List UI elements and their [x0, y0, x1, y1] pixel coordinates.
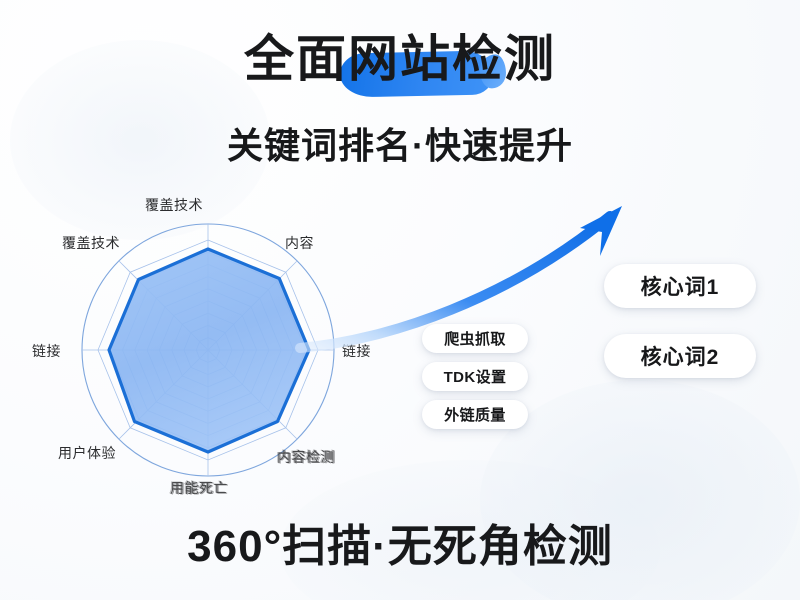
radar-axis-label-bottom: 用能死亡 — [170, 478, 228, 498]
title-part-suffix: 检测 — [452, 31, 556, 87]
keyword-pill-1-label: 核心词1 — [641, 271, 720, 301]
radar-axis-label-bottom-right: 内容检测 — [277, 447, 335, 467]
page-footer-title: 360°扫描·无死角检测 — [0, 510, 800, 574]
radar-axis-label-bottom-left: 用户体验 — [58, 443, 116, 463]
detail-pill-crawl[interactable]: 爬虫抓取 — [422, 324, 528, 353]
detail-pill-backlink-label: 外链质量 — [444, 404, 506, 425]
keyword-pill-1[interactable]: 核心词1 — [604, 264, 756, 308]
detail-pill-tdk[interactable]: TDK设置 — [422, 362, 528, 391]
radar-axis-label-right: 链接 — [342, 341, 371, 361]
radar-axis-label-left: 链接 — [32, 341, 61, 361]
radar-chart: 覆盖技术 内容 链接 内容检测 用能死亡 用户体验 链接 覆盖技术 — [30, 185, 400, 515]
radar-axis-label-top: 覆盖技术 — [145, 195, 203, 215]
keyword-pill-2[interactable]: 核心词2 — [604, 334, 756, 378]
title-part-highlight: 网站 — [348, 31, 452, 87]
radar-axis-label-top-right: 内容 — [285, 233, 314, 253]
poster-canvas: 全面网站检测 关键词排名·快速提升 — [0, 0, 800, 600]
page-subtitle: 关键词排名·快速提升 — [0, 117, 800, 169]
detail-pill-tdk-label: TDK设置 — [444, 366, 507, 387]
radar-axis-label-top-left: 覆盖技术 — [62, 233, 120, 253]
page-title: 全面网站检测 — [240, 34, 560, 84]
keyword-pill-2-label: 核心词2 — [641, 341, 720, 371]
detail-pill-crawl-label: 爬虫抓取 — [444, 328, 506, 349]
radar-data-polygon — [109, 249, 309, 452]
detail-pill-backlink[interactable]: 外链质量 — [422, 400, 528, 429]
title-part-prefix: 全面 — [244, 31, 348, 87]
title-block: 全面网站检测 — [0, 34, 800, 84]
